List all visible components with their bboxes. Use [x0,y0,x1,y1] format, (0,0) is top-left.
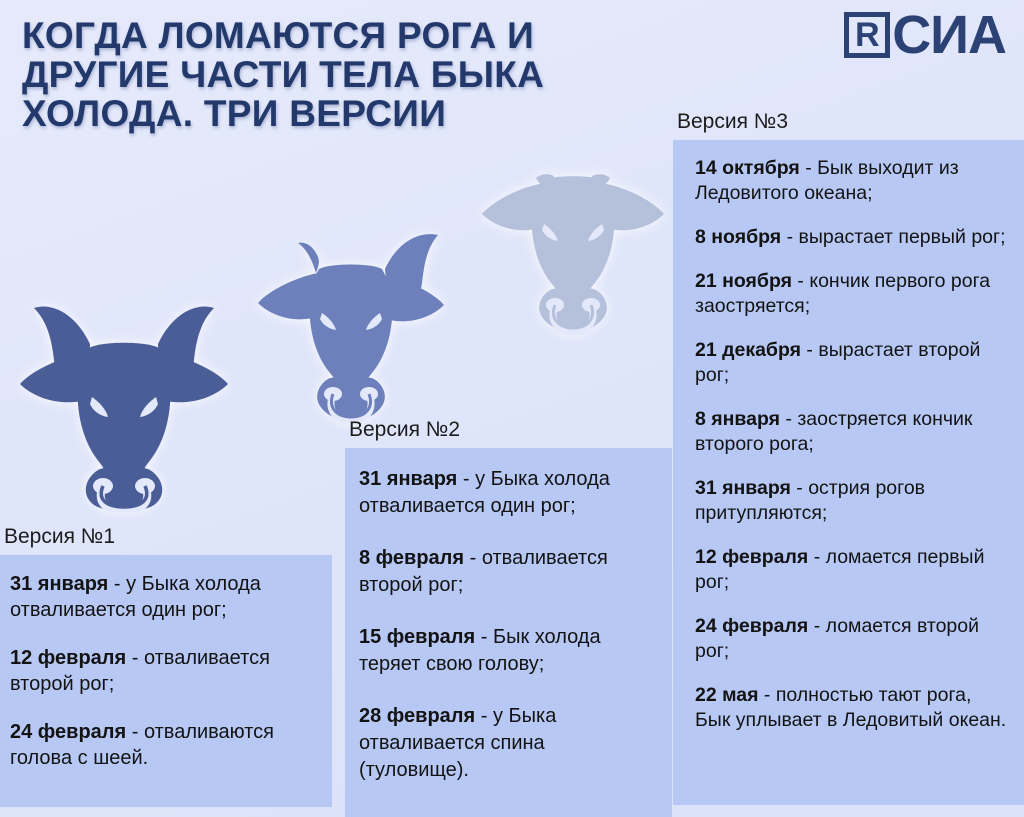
bull-head-one-horn [254,233,446,423]
version-3-entry-1: 14 октября - Бык выходит из Ледовитого о… [695,156,1012,206]
bull-head-no-horns [478,162,668,340]
entry-date: 8 февраля [359,547,464,569]
entry-date: 8 января [695,408,780,430]
entry-date: 31 января [10,573,108,595]
infographic-canvas: КОГДА ЛОМАЮТСЯ РОГА И ДРУГИЕ ЧАСТИ ТЕЛА … [0,0,1024,817]
version-2-entry-4: 28 февраля - у Быка отваливается спина (… [359,703,658,784]
entry-date: 21 ноября [695,270,792,292]
logo-box-icon: Я [844,12,890,58]
version-1-entry-3: 24 февраля - отваливаются голова с шеей. [10,719,322,771]
version-3-entry-4: 21 декабря - вырастает второй рог; [695,338,1012,388]
entry-date: 21 декабря [695,339,801,361]
bull-one-horn-icon [254,233,446,423]
bull-head-full-horns [14,304,234,512]
entry-date: 24 февраля [695,615,808,637]
entry-date: 28 февраля [359,705,475,727]
version-3-label: Версия №3 [673,110,1024,134]
version-1-body: 31 января - у Быка холода отваливается о… [0,555,332,807]
entry-date: 14 октября [695,157,800,179]
entry-date: 22 мая [695,684,759,706]
bull-no-horns-icon [478,162,668,340]
logo-wordmark: СИА [892,12,1006,58]
entry-date: 12 февраля [695,546,808,568]
entry-date: 31 января [695,477,791,499]
version-3-entry-5: 8 января - заостряется кончик второго ро… [695,407,1012,457]
version-2-body: 31 января - у Быка холода отваливается о… [345,448,672,817]
version-3-body: 14 октября - Бык выходит из Ледовитого о… [673,140,1024,805]
version-3-entry-7: 12 февраля - ломается первый рог; [695,545,1012,595]
page-title: КОГДА ЛОМАЮТСЯ РОГА И ДРУГИЕ ЧАСТИ ТЕЛА … [22,16,672,133]
version-2-label: Версия №2 [345,418,672,442]
entry-date: 31 января [359,468,457,490]
version-3-entry-6: 31 января - острия рогов притупляются; [695,476,1012,526]
version-3-entry-9: 22 мая - полностью тают рога, Бык уплыва… [695,683,1012,733]
version-3-entry-8: 24 февраля - ломается второй рог; [695,614,1012,664]
entry-date: 15 февраля [359,626,475,648]
version-1-label: Версия №1 [0,525,332,549]
entry-date: 12 февраля [10,647,126,669]
version-2-panel: Версия №2 31 января - у Быка холода отва… [345,418,672,817]
version-1-entry-1: 31 января - у Быка холода отваливается о… [10,571,322,623]
bull-full-horns-icon [14,304,234,512]
entry-text: - вырастает первый рог; [781,226,1005,248]
version-2-entry-1: 31 января - у Быка холода отваливается о… [359,466,658,520]
version-3-entry-2: 8 ноября - вырастает первый рог; [695,225,1012,250]
logo-ya-letter: Я [855,18,879,52]
version-1-entry-2: 12 февраля - отваливается второй рог; [10,645,322,697]
entry-date: 8 ноября [695,226,781,248]
version-2-entry-2: 8 февраля - отваливается второй рог; [359,545,658,599]
version-1-panel: Версия №1 31 января - у Быка холода отва… [0,525,332,807]
version-3-entry-3: 21 ноября - кончик первого рога заостряе… [695,269,1012,319]
entry-date: 24 февраля [10,721,126,743]
version-2-entry-3: 15 февраля - Бык холода теряет свою голо… [359,624,658,678]
yasia-logo[interactable]: Я СИА [844,12,1006,58]
version-3-panel: Версия №3 14 октября - Бык выходит из Ле… [673,110,1024,805]
